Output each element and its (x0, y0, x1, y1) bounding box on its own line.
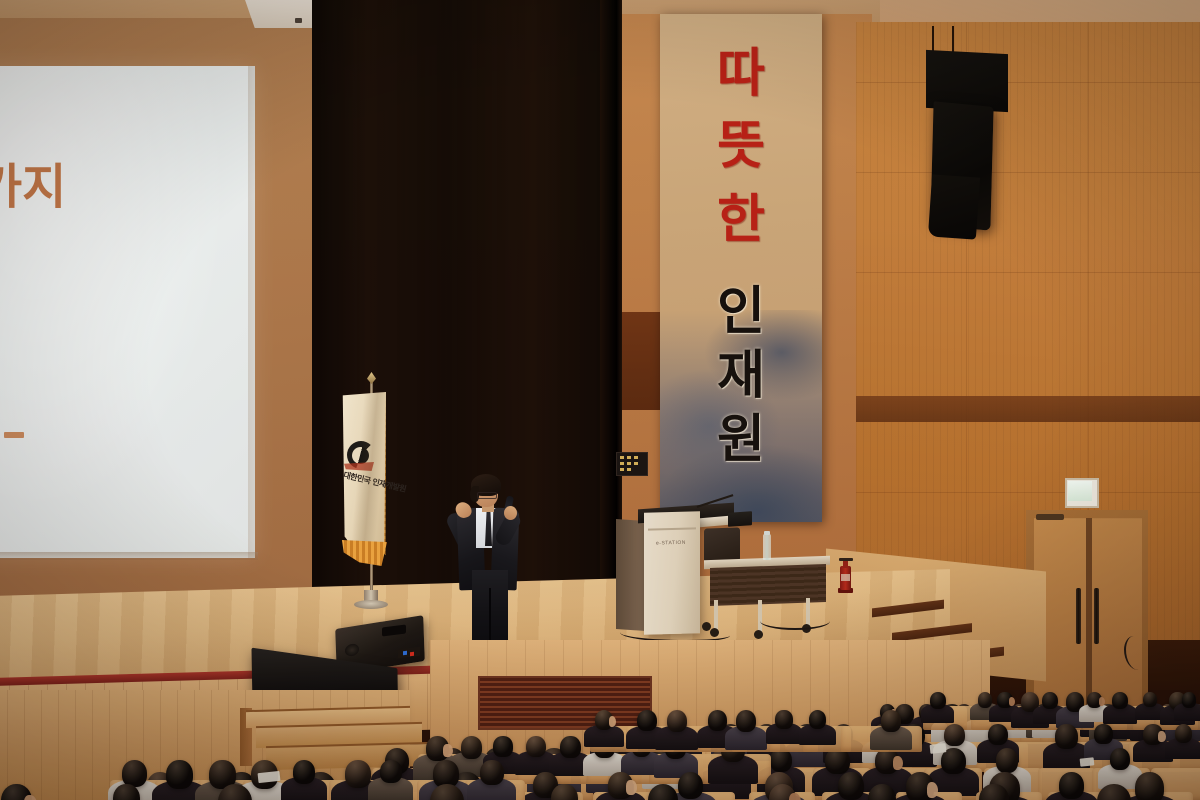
banner-char-2: 뜻 (660, 120, 822, 172)
audience-person-face (626, 780, 636, 794)
line-array-loudspeaker-lower (928, 174, 980, 239)
speaker-glasses (477, 492, 497, 499)
audience-person-head (809, 710, 827, 729)
fire-extinguisher-neck (843, 560, 848, 568)
audience-person-face (443, 744, 453, 757)
audience-person-face (789, 793, 801, 800)
audience-person-head (493, 736, 512, 757)
door-handle-right[interactable] (1094, 588, 1099, 644)
wall-seam (856, 82, 1200, 83)
audience-person-head (560, 736, 580, 758)
fire-extinguisher-label (841, 574, 850, 581)
audience-person-head (978, 692, 992, 708)
door-right[interactable] (1092, 518, 1142, 710)
slide-bullet-mark (4, 432, 24, 438)
table-caster (754, 630, 763, 639)
audience-person-head (1042, 692, 1058, 709)
audience-person-face (1099, 697, 1105, 706)
screen-edge-right (248, 66, 255, 558)
audience-person-head (736, 710, 756, 732)
door-handle-left[interactable] (1076, 588, 1081, 644)
banner-char-6: 원 (660, 414, 822, 466)
wall-seam (856, 492, 1200, 493)
wall-control-panel[interactable] (616, 452, 648, 476)
audience-handout-paper (930, 743, 947, 754)
audience-person-head (380, 760, 401, 783)
audience-person-head (480, 760, 503, 785)
wall-air-vent-grille (478, 676, 652, 730)
audience-person-head (293, 760, 315, 784)
audience-person-head (166, 760, 193, 789)
lectern-logo-text: e-STATION (656, 539, 696, 546)
stage-cable (760, 612, 830, 630)
audience-person-head (838, 772, 864, 800)
audience-person-head (1135, 772, 1164, 800)
audience-person-head (667, 710, 687, 732)
audience-handout-paper (1080, 757, 1095, 766)
banner-char-3: 한 (660, 194, 822, 246)
audience-person-head (775, 710, 792, 729)
audience-person-head (881, 710, 901, 732)
calligraphy-banner: 따 뜻 한 인 재 원 (660, 14, 822, 522)
audience-person-face (1009, 697, 1015, 706)
flag-fold-shadow (340, 392, 386, 560)
water-bottle-cap (764, 531, 770, 535)
audience-person-head (708, 710, 727, 731)
slide-title-text: 가지 (0, 163, 74, 211)
ceiling-speaker-vent (295, 18, 302, 23)
door-gap (1086, 518, 1092, 710)
fire-extinguisher-handle (839, 558, 853, 561)
lectern-side-panel (616, 519, 646, 631)
water-bottle (763, 534, 771, 560)
banner-char-1: 따 (660, 48, 822, 100)
stage-monitor-led-blue (403, 651, 407, 655)
wall-accent-band (856, 396, 1200, 422)
wall-seam (856, 272, 1200, 273)
audience-person-head (1175, 724, 1193, 743)
audience-person-head (1112, 692, 1128, 709)
audience-person-head (930, 692, 946, 709)
audience-person-head (1143, 692, 1157, 707)
audience-person-head (678, 772, 703, 799)
audience-person-head (526, 736, 546, 757)
exit-sign-glow (1068, 481, 1092, 501)
audience-person-head (1055, 724, 1078, 749)
audience-person-head (1094, 724, 1112, 744)
projection-screen-glare (0, 66, 255, 558)
wall-shelf-device (728, 511, 752, 527)
screen-edge-bottom (0, 552, 258, 560)
banner-char-5: 재 (660, 350, 822, 402)
audience-person-head (1182, 692, 1196, 708)
stage-chair (704, 527, 740, 562)
speaker-right-hand (504, 506, 517, 520)
audience-person-head (345, 760, 371, 788)
banner-char-4: 인 (660, 286, 822, 338)
audience-person-head (1110, 748, 1131, 770)
audience-person-head (944, 724, 965, 746)
audience-person-head (637, 710, 657, 731)
audience-person-head (996, 748, 1019, 773)
flag-stand-base (354, 600, 388, 609)
audience-person-head (988, 724, 1008, 745)
auditorium-photo: 가지 따 뜻 한 인 재 원 (0, 0, 1200, 800)
audience-person-head (1059, 772, 1084, 799)
audience-person-face (1158, 731, 1166, 742)
stage-monitor-led-red (410, 652, 414, 656)
speaker-leg-seam (489, 588, 491, 648)
wall-seam (856, 172, 1200, 173)
audience-person-head (461, 736, 482, 759)
door-closer (1036, 514, 1064, 520)
